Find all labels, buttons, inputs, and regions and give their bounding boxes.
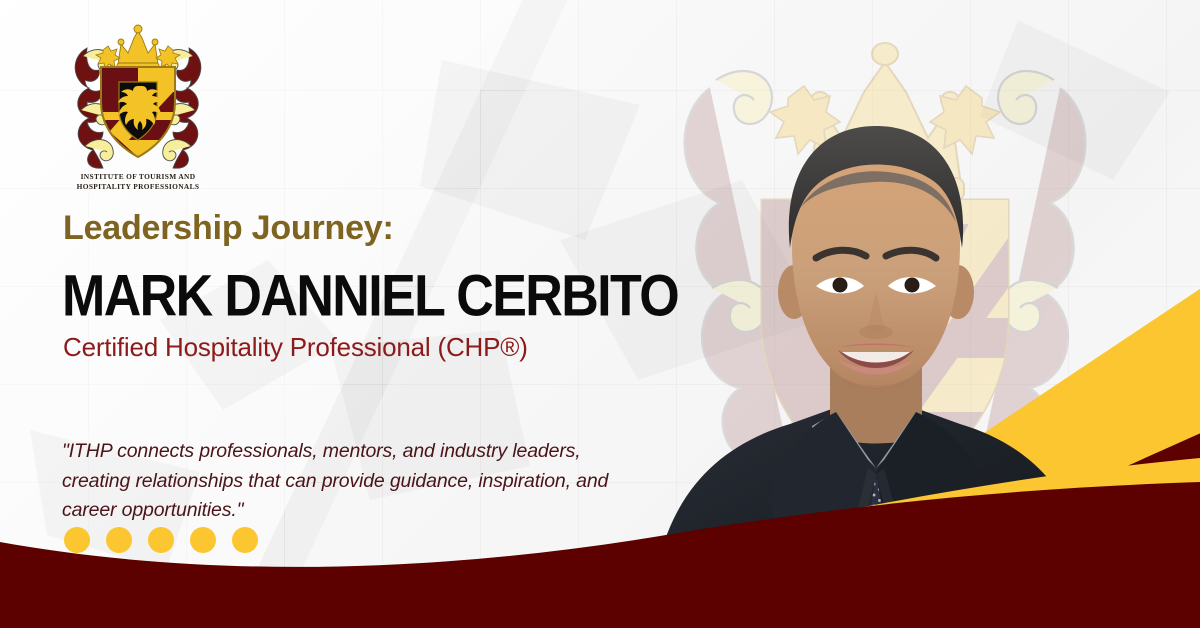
testimonial-quote: "ITHP connects professionals, mentors, a… <box>62 437 637 526</box>
logo-text: Institute of Tourism and Hospitality Pro… <box>58 172 218 192</box>
ithp-logo[interactable]: Institute of Tourism and Hospitality Pro… <box>58 24 218 199</box>
dot <box>232 527 258 553</box>
dot <box>148 527 174 553</box>
credential-label: Certified Hospitality Professional (CHP®… <box>63 332 528 363</box>
dot <box>106 527 132 553</box>
crest-icon <box>63 24 213 170</box>
dot-decoration <box>64 527 258 553</box>
dot <box>64 527 90 553</box>
eyebrow-label: Leadership Journey: <box>63 209 394 248</box>
leadership-journey-banner: Institute of Tourism and Hospitality Pro… <box>0 0 1200 628</box>
person-name: MARK DANNIEL CERBITO <box>62 263 678 330</box>
dot <box>190 527 216 553</box>
